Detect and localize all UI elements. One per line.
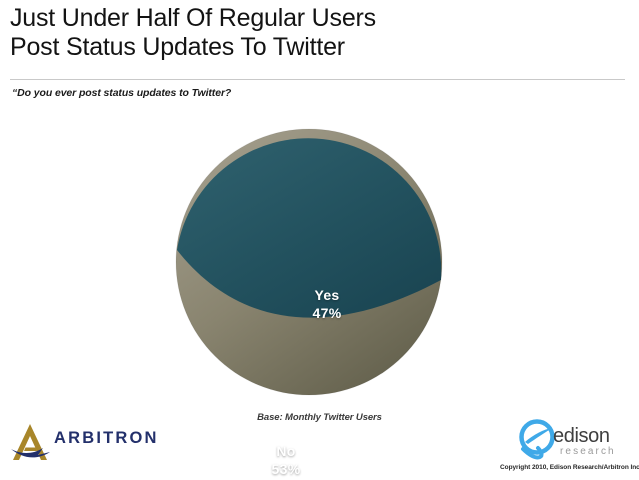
page-title: Just Under Half Of Regular Users Post St…	[10, 4, 610, 62]
pie-label-yes-name: Yes	[314, 287, 339, 303]
header-divider	[10, 79, 625, 80]
pie-label-no-name: No	[276, 443, 295, 459]
edison-wordmark: edison	[553, 425, 610, 448]
survey-question-text: “Do you ever post status updates to Twit…	[12, 87, 231, 99]
pie-label-no: No 53%	[241, 442, 331, 478]
edison-research-logo: edison research	[516, 418, 634, 462]
page-title-line-1: Just Under Half Of Regular Users	[10, 4, 610, 33]
edison-subword: research	[560, 446, 616, 457]
arbitron-wordmark: ARBITRON	[54, 429, 159, 448]
pie-svg	[175, 128, 443, 396]
pie-chart: Yes 47% No 53%	[0, 120, 639, 420]
copyright-text: Copyright 2010, Edison Research/Arbitron…	[500, 464, 636, 471]
pie-graphic	[175, 128, 443, 396]
pie-label-yes-value: 47%	[282, 304, 372, 322]
pie-label-no-value: 53%	[241, 460, 331, 478]
page-title-line-2: Post Status Updates To Twitter	[10, 33, 610, 62]
arbitron-logo: ARBITRON	[10, 421, 180, 466]
arbitron-triangle-icon	[10, 421, 54, 463]
pie-label-yes: Yes 47%	[282, 286, 372, 322]
